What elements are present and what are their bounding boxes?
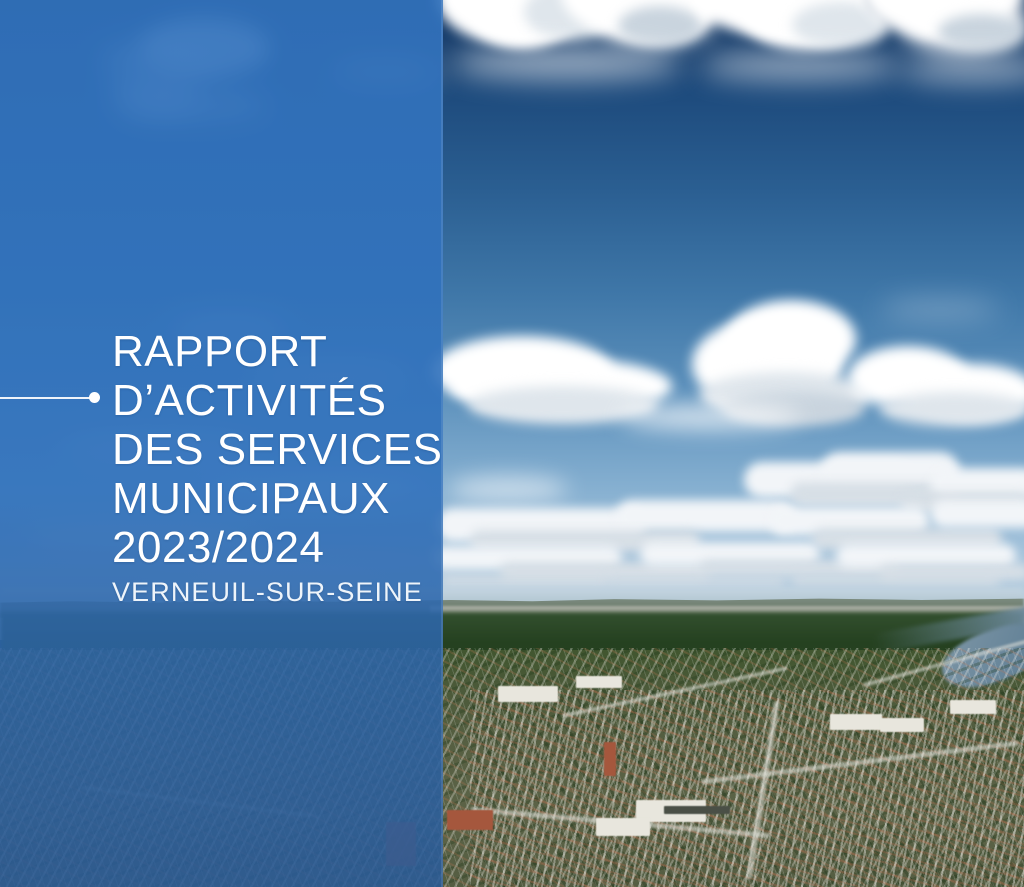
page-title-line-5: 2023/2024 [112,523,452,572]
town-texture-dense [470,690,1024,887]
page-title-line-3: DES SERVICES [112,425,452,474]
building-block [498,686,558,702]
report-cover-page: RAPPORT D’ACTIVITÉS DES SERVICES MUNICIP… [0,0,1024,887]
building-block [596,818,650,836]
page-subtitle: VERNEUIL-SUR-SEINE [112,572,452,612]
building-block-red-roof [604,742,616,776]
page-title-line-4: MUNICIPAUX [112,474,452,523]
building-block [880,718,924,732]
cover-title-block: RAPPORT D’ACTIVITÉS DES SERVICES MUNICIP… [112,327,452,612]
building-block-red-roof [447,810,493,830]
building-block [830,714,882,730]
bullet-dot [89,392,100,403]
building-block [576,676,622,688]
page-title-line-1: RAPPORT [112,327,452,376]
horizontal-rule-with-dot [0,397,93,399]
page-title-line-2: D’ACTIVITÉS [112,376,452,425]
building-block [950,700,996,714]
building-block [664,806,730,814]
